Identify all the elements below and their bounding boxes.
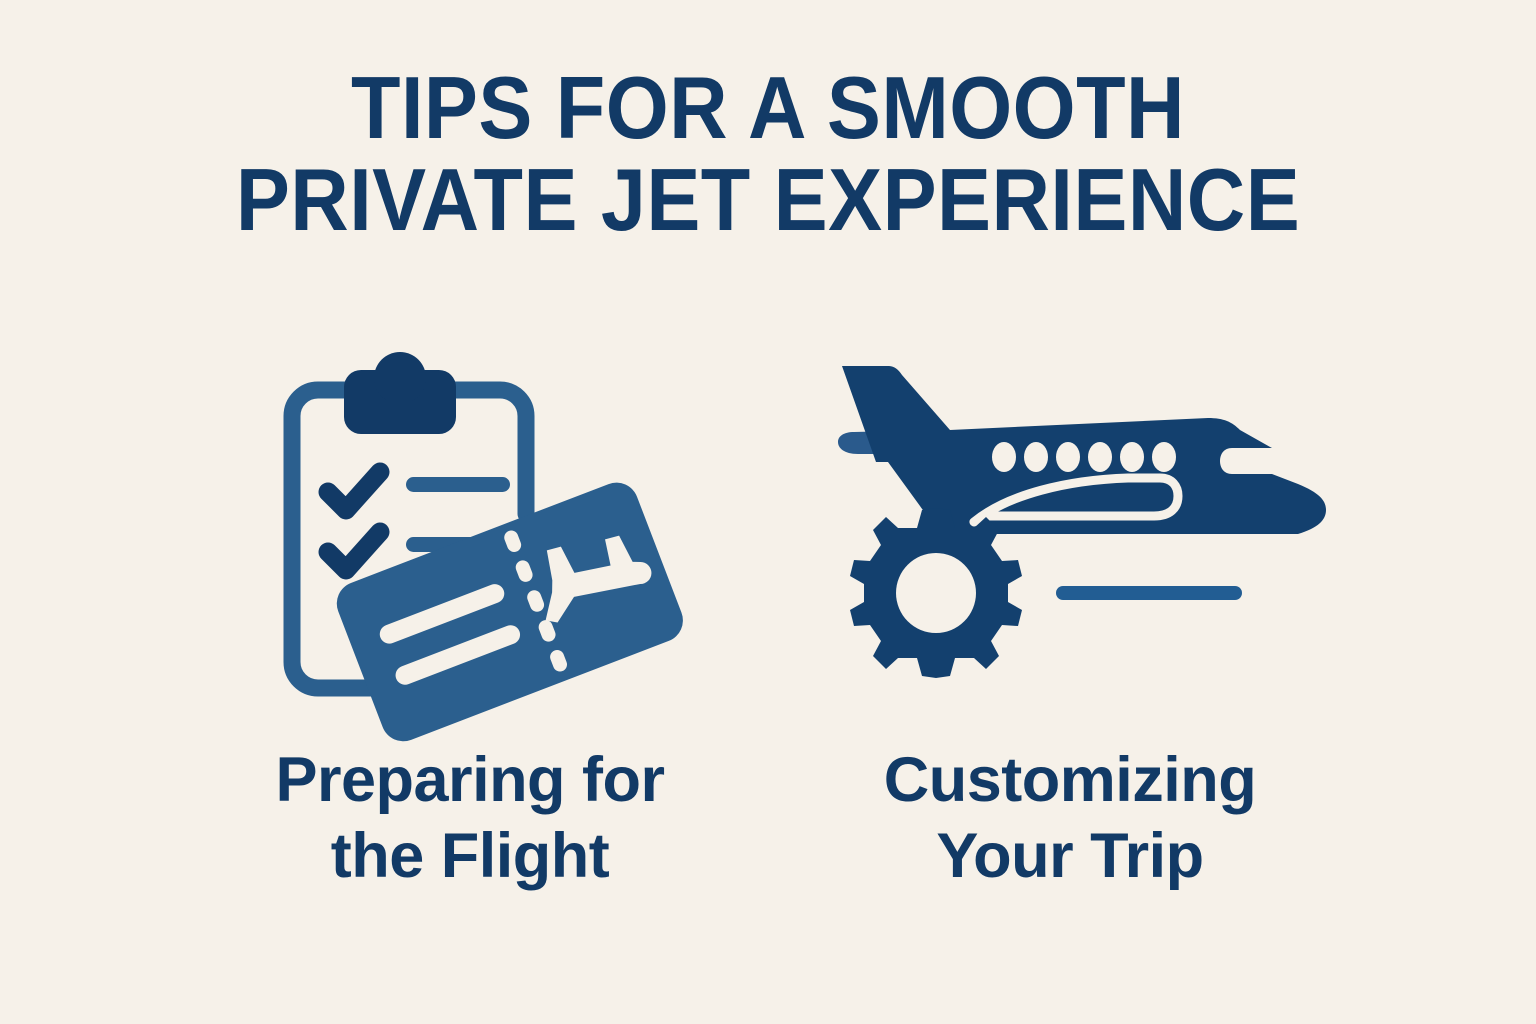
boarding-pass-ticket xyxy=(330,476,689,744)
gear-wheel xyxy=(850,508,1022,678)
page-title: TIPS FOR A SMOOTH PRIVATE JET EXPERIENCE xyxy=(0,62,1536,246)
checklist-line-1 xyxy=(406,477,510,492)
clipboard-clip xyxy=(344,352,456,434)
caption-line-1: Customizing xyxy=(760,742,1380,818)
infographic-poster: TIPS FOR A SMOOTH PRIVATE JET EXPERIENCE xyxy=(0,0,1536,1024)
sections-row: Preparing for the Flight xyxy=(0,330,1536,930)
caption-line-2: Your Trip xyxy=(760,818,1380,894)
caption-line-2: the Flight xyxy=(160,818,780,894)
speed-line xyxy=(1056,586,1242,600)
section-preparing-for-the-flight: Preparing for the Flight xyxy=(160,330,780,930)
checkmark-1 xyxy=(328,472,380,510)
private-jet-gear-icon xyxy=(760,330,1380,730)
title-line-2: PRIVATE JET EXPERIENCE xyxy=(61,154,1474,246)
title-line-1: TIPS FOR A SMOOTH xyxy=(61,62,1474,154)
section-caption-customizing: Customizing Your Trip xyxy=(760,742,1380,894)
clipboard-checklist-boarding-pass-icon xyxy=(160,330,780,730)
checkmark-2 xyxy=(328,532,380,570)
caption-line-1: Preparing for xyxy=(160,742,780,818)
section-caption-preparing: Preparing for the Flight xyxy=(160,742,780,894)
section-customizing-your-trip: Customizing Your Trip xyxy=(760,330,1380,930)
